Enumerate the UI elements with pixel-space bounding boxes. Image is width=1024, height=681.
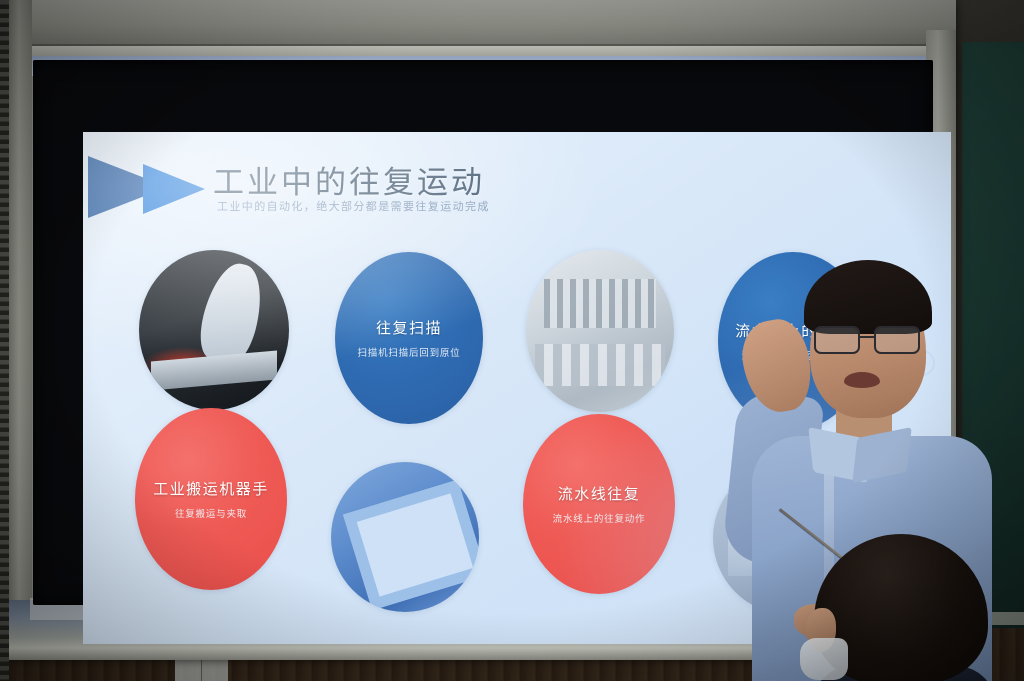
bubble-photo-robot-arm[interactable] xyxy=(139,250,289,410)
arrow-front-icon xyxy=(143,164,205,214)
bubble-caption: 流水线上的往复动作 xyxy=(553,511,646,525)
bubble-text-scan[interactable]: 往复扫描 扫描机扫描后回到原位 xyxy=(335,252,483,424)
bubble-heading: 流水线往复 xyxy=(558,483,641,504)
wall-perforated-strip xyxy=(0,0,9,681)
bubble-caption: 往复搬运与夹取 xyxy=(175,506,247,520)
slide-subtitle: 工业中的自动化，绝大部分都是需要往复运动完成 xyxy=(217,198,490,214)
bubble-photo-scanner-frame[interactable] xyxy=(331,462,479,612)
bubble-photo-bottling-line[interactable] xyxy=(526,250,674,412)
student-foreground xyxy=(806,534,996,681)
student-face-mask xyxy=(800,638,848,680)
bubble-caption: 扫描机扫描后回到原位 xyxy=(357,345,460,359)
slide-title: 工业中的往复运动 xyxy=(213,157,485,202)
bubble-text-line-reciprocation[interactable]: 流水线往复 流水线上的往复动作 xyxy=(523,414,675,594)
presenter-mouth xyxy=(844,372,880,388)
bubble-heading: 工业搬运机器手 xyxy=(153,478,269,499)
frame-left-rail xyxy=(8,0,32,660)
glasses-icon xyxy=(812,326,924,350)
frame-top-bar xyxy=(8,0,956,46)
bubble-text-robot-hand[interactable]: 工业搬运机器手 往复搬运与夹取 xyxy=(135,408,287,590)
presenter-hair xyxy=(804,260,932,334)
classroom-scene: seewo 工业中的往复运动 工业中的自动化，绝大部分都是需要往复运动完成 往复… xyxy=(0,0,1024,681)
bubble-heading: 往复扫描 xyxy=(376,317,442,338)
